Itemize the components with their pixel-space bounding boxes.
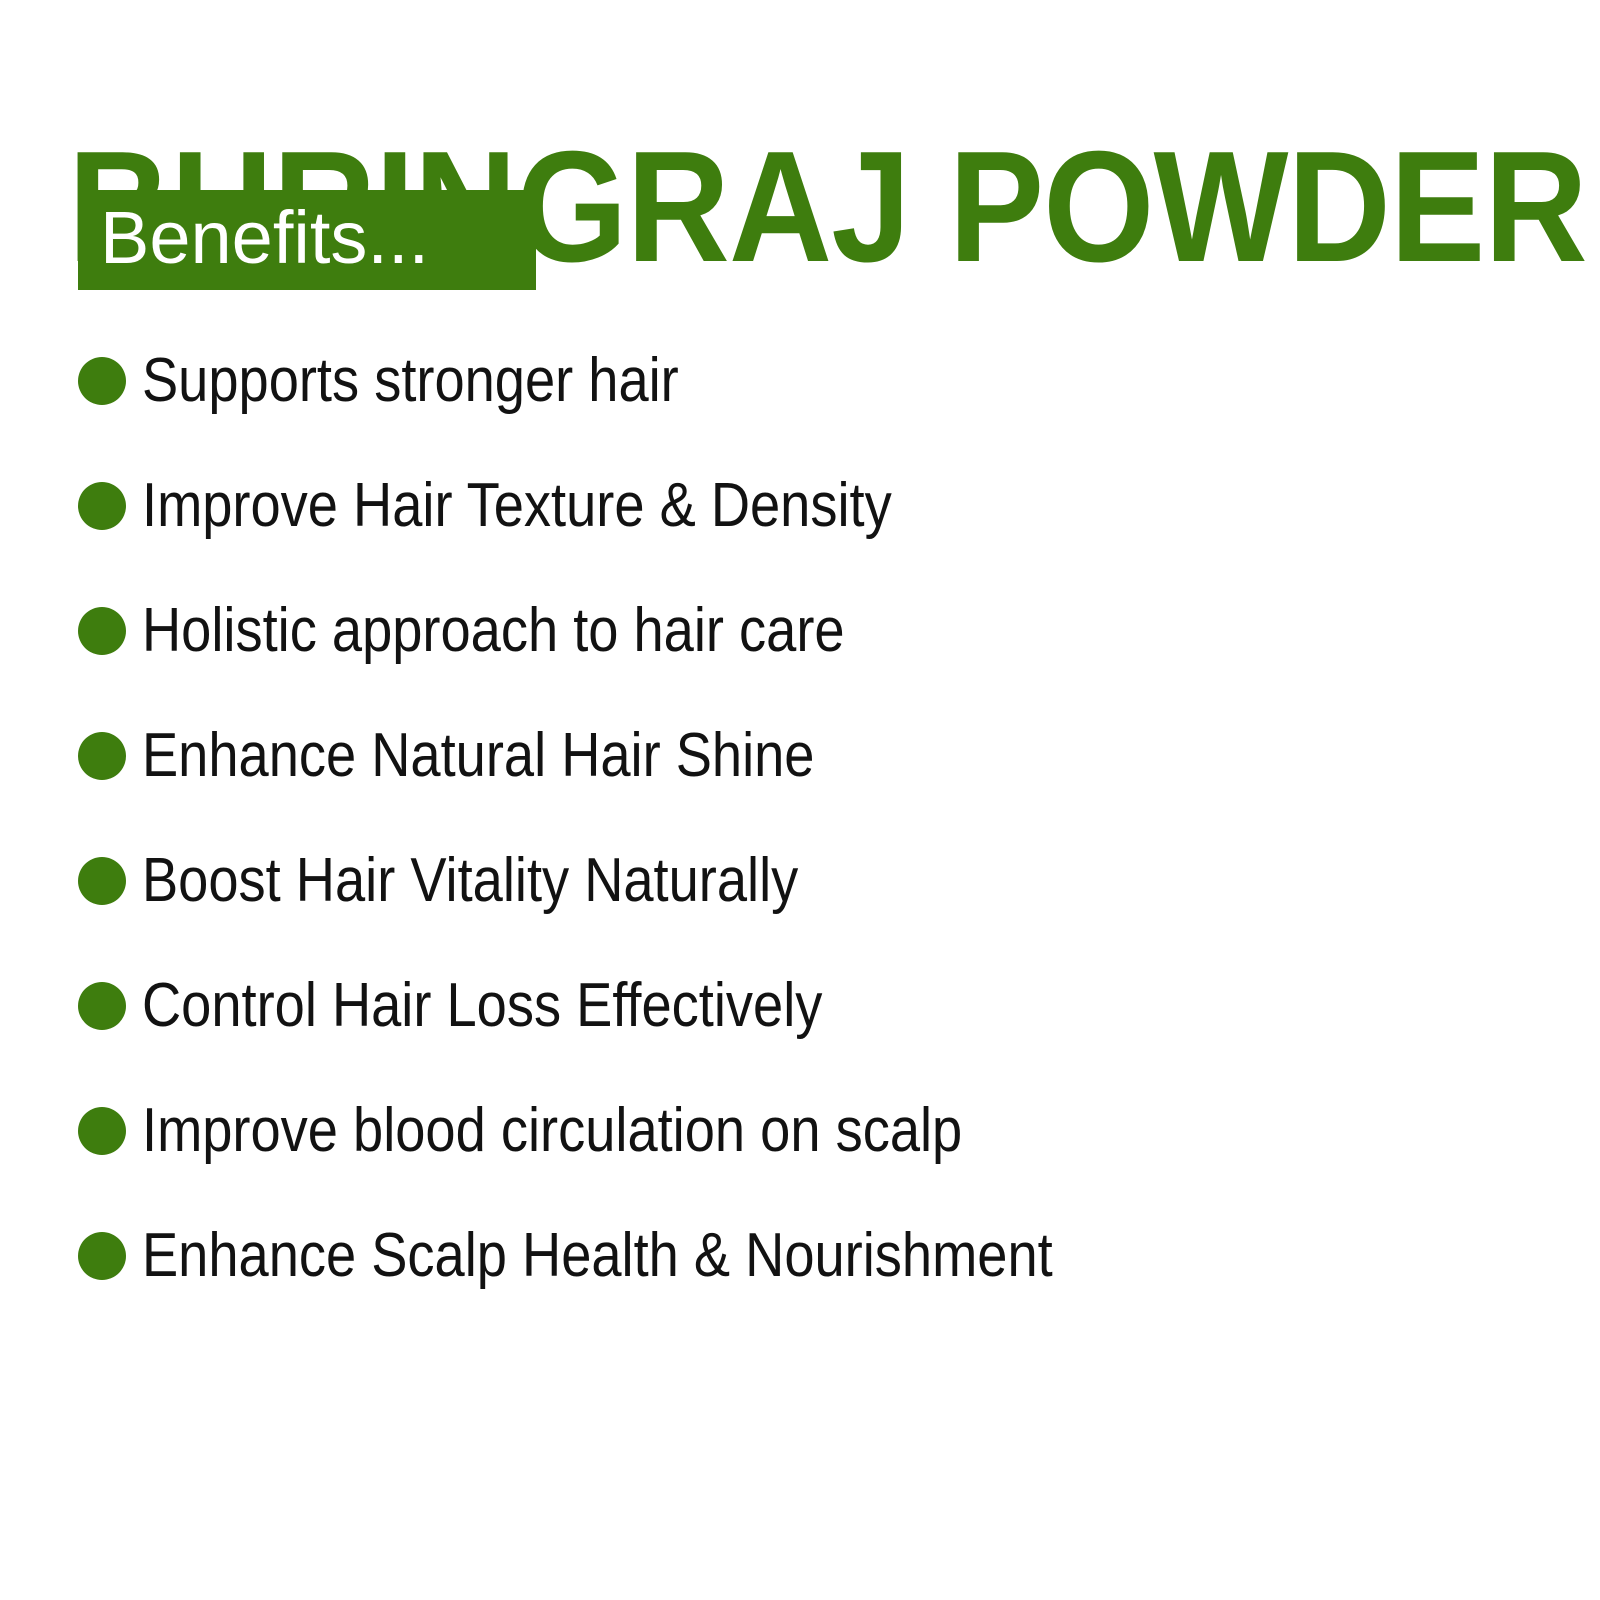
- benefits-banner-label: Benefits...: [100, 188, 530, 288]
- bullet-dot-icon: [78, 482, 126, 530]
- list-item: Improve Hair Texture & Density: [78, 443, 1558, 568]
- list-item: Supports stronger hair: [78, 318, 1558, 443]
- benefits-list: Supports stronger hair Improve Hair Text…: [78, 318, 1558, 1318]
- benefit-label: Supports stronger hair: [142, 346, 679, 416]
- bullet-dot-icon: [78, 982, 126, 1030]
- benefits-poster: BHRINGRAJ POWDER Benefits... Supports st…: [0, 0, 1600, 1600]
- benefit-label: Improve Hair Texture & Density: [142, 471, 892, 541]
- bullet-dot-icon: [78, 1107, 126, 1155]
- list-item: Holistic approach to hair care: [78, 568, 1558, 693]
- benefits-banner: Benefits...: [78, 190, 536, 290]
- list-item: Boost Hair Vitality Naturally: [78, 818, 1558, 943]
- bullet-dot-icon: [78, 732, 126, 780]
- list-item: Enhance Scalp Health & Nourishment: [78, 1193, 1558, 1318]
- benefit-label: Control Hair Loss Effectively: [142, 971, 822, 1041]
- list-item: Improve blood circulation on scalp: [78, 1068, 1558, 1193]
- list-item: Enhance Natural Hair Shine: [78, 693, 1558, 818]
- bullet-dot-icon: [78, 1232, 126, 1280]
- benefit-label: Enhance Natural Hair Shine: [142, 721, 814, 791]
- bullet-dot-icon: [78, 857, 126, 905]
- bullet-dot-icon: [78, 607, 126, 655]
- benefit-label: Holistic approach to hair care: [142, 596, 845, 666]
- benefit-label: Improve blood circulation on scalp: [142, 1096, 962, 1166]
- list-item: Control Hair Loss Effectively: [78, 943, 1558, 1068]
- bullet-dot-icon: [78, 357, 126, 405]
- benefit-label: Enhance Scalp Health & Nourishment: [142, 1221, 1053, 1291]
- benefit-label: Boost Hair Vitality Naturally: [142, 846, 798, 916]
